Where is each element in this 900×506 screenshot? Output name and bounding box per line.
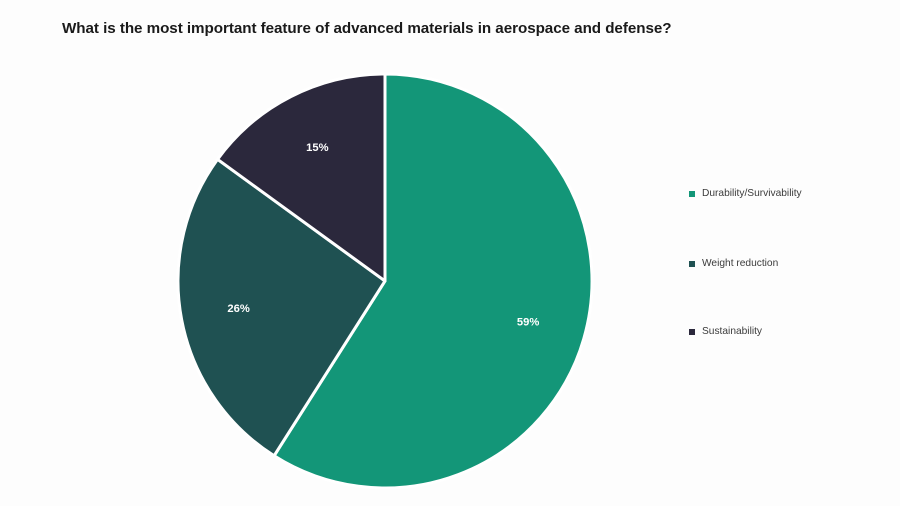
chart-canvas: What is the most important feature of ad…	[0, 0, 900, 506]
pie-slice-label: 15%	[306, 142, 328, 154]
legend-swatch-icon	[689, 329, 695, 335]
legend-item-label: Sustainability	[702, 325, 762, 339]
pie-slice-label: 26%	[227, 303, 249, 315]
legend-item-label: Weight reduction	[702, 257, 778, 271]
legend-item-label: Durability/Survivability	[702, 187, 802, 201]
pie-slice-label: 59%	[517, 317, 539, 329]
pie-slice-group	[178, 74, 592, 488]
pie-chart: 59%26%15%	[178, 74, 592, 488]
chart-title: What is the most important feature of ad…	[62, 20, 671, 37]
legend-item[interactable]: Durability/Survivability	[689, 187, 802, 201]
pie-chart-svg: 59%26%15%	[178, 74, 592, 488]
legend-item[interactable]: Sustainability	[689, 325, 762, 339]
legend-swatch-icon	[689, 261, 695, 267]
legend-item[interactable]: Weight reduction	[689, 257, 778, 271]
legend-swatch-icon	[689, 191, 695, 197]
